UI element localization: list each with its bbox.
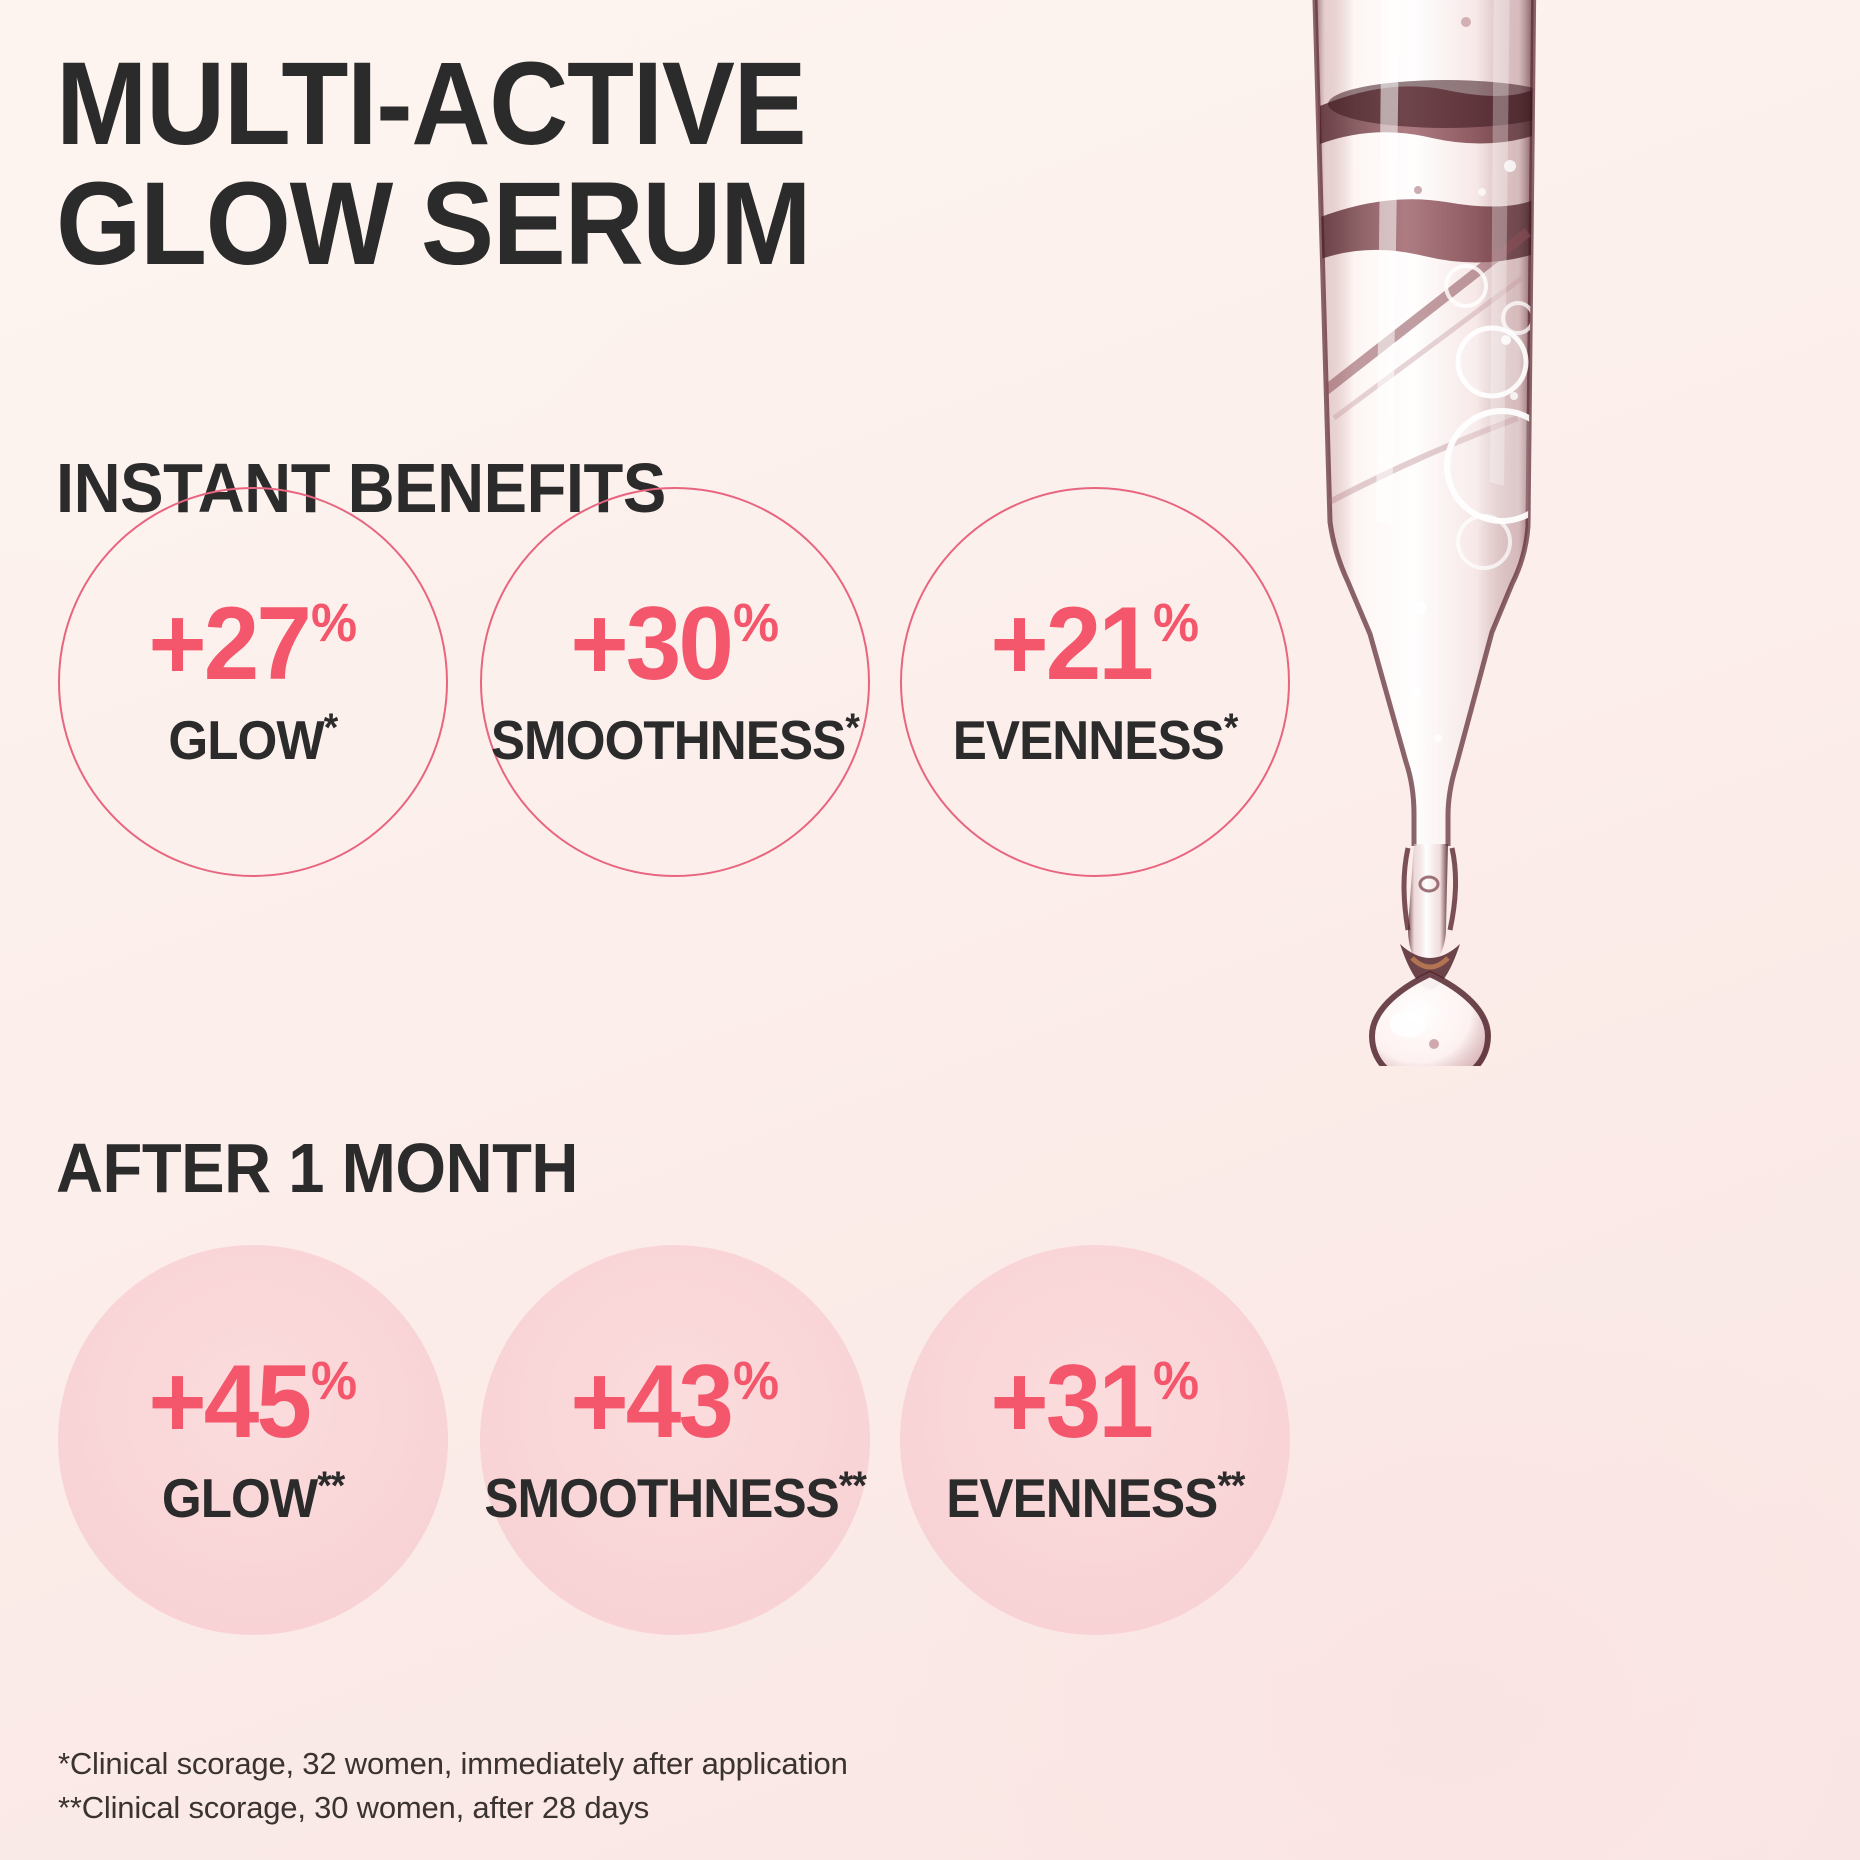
dropper-tip-edge-right — [1450, 848, 1456, 930]
dropper-glass-tube — [1314, 0, 1534, 846]
droplet-highlight — [1390, 1011, 1426, 1037]
stat-label: EVENNESS ** — [946, 1466, 1244, 1530]
bubble-small-9 — [1434, 734, 1442, 742]
stat-label: SMOOTHNESS ** — [484, 1466, 866, 1530]
bubble-small-2 — [1504, 160, 1516, 172]
stat-number: +31 — [991, 1350, 1152, 1454]
footnote-double-asterisk: **Clinical scorage, 30 women, after 28 d… — [58, 1786, 848, 1830]
droplet-pinch — [1400, 944, 1460, 990]
stat-label-text: GLOW — [162, 1466, 317, 1530]
bubble-small-3 — [1478, 188, 1486, 196]
dropper-tip-edge-left — [1404, 848, 1408, 930]
stat-label: SMOOTHNESS * — [491, 708, 859, 772]
footnote-marker: * — [1224, 708, 1238, 748]
stat-label-text: EVENNESS — [946, 1466, 1217, 1530]
bubble-small-6 — [1510, 392, 1518, 400]
stat-number: +45 — [149, 1350, 310, 1454]
dropper-right-edge — [1448, 0, 1534, 846]
stat-label-text: EVENNESS — [953, 708, 1224, 772]
footnote-marker: ** — [317, 1466, 344, 1506]
stat-value: +30 % — [571, 592, 780, 696]
droplet-bubble — [1429, 1039, 1439, 1049]
stat-label: GLOW * — [169, 708, 338, 772]
bubble-large-4-fill — [1447, 411, 1557, 521]
footnote-marker: ** — [839, 1466, 866, 1506]
droplet-pinch-warm-glint — [1412, 958, 1448, 967]
tip-bubble — [1420, 877, 1438, 891]
liquid-band-mid — [1318, 199, 1534, 262]
bubble-interface-1 — [1326, 232, 1528, 390]
bubble-small-5 — [1501, 335, 1511, 345]
stat-row-instant-benefits: +27 % GLOW * +30 % SMOOTHNESS * +21 % — [0, 487, 1320, 877]
stat-number: +43 — [571, 1350, 732, 1454]
stat-circle-glow-month: +45 % GLOW ** — [58, 1245, 448, 1635]
stat-circle-evenness-instant: +21 % EVENNESS * — [900, 487, 1290, 877]
page-title: MULTI-ACTIVE GLOW SERUM — [56, 44, 1172, 285]
footnote-marker: ** — [1217, 1466, 1244, 1506]
bubble-large-3 — [1503, 303, 1533, 333]
serum-droplet — [1370, 972, 1490, 1066]
stat-label: EVENNESS * — [953, 708, 1238, 772]
bubble-large-5 — [1458, 516, 1510, 568]
footnote-single-asterisk: *Clinical scorage, 32 women, immediately… — [58, 1742, 848, 1786]
infographic-stage: MULTI-ACTIVE GLOW SERUM INSTANT BENEFITS… — [0, 0, 1860, 1860]
bubble-large-1 — [1458, 328, 1526, 396]
stat-circle-evenness-month: +31 % EVENNESS ** — [900, 1245, 1290, 1635]
percent-symbol: % — [311, 596, 357, 650]
footnotes: *Clinical scorage, 32 women, immediately… — [58, 1742, 848, 1830]
footnote-marker: * — [324, 708, 338, 748]
stat-label-text: GLOW — [169, 708, 324, 772]
percent-symbol: % — [311, 1354, 357, 1408]
bubble-small-1 — [1461, 17, 1471, 27]
percent-symbol: % — [733, 596, 779, 650]
percent-symbol: % — [1153, 596, 1199, 650]
bubble-small-4 — [1414, 186, 1422, 194]
bubble-interface-3 — [1322, 418, 1518, 506]
bubble-small-8 — [1411, 687, 1421, 697]
glass-highlight-right — [1490, 0, 1510, 486]
stat-row-after-1-month: +45 % GLOW ** +43 % SMOOTHNESS ** +31 % — [0, 1245, 1320, 1635]
stat-value: +43 % — [571, 1350, 780, 1454]
dropper-left-edge — [1314, 0, 1414, 846]
stat-value: +31 % — [991, 1350, 1200, 1454]
stat-number: +27 — [149, 592, 310, 696]
stat-value: +27 % — [149, 592, 358, 696]
stat-label: GLOW ** — [162, 1466, 344, 1530]
dropper-interior — [1318, 0, 1564, 742]
stat-number: +21 — [991, 592, 1152, 696]
percent-symbol: % — [1153, 1354, 1199, 1408]
dropper-tip — [1408, 844, 1448, 972]
percent-symbol: % — [733, 1354, 779, 1408]
section-heading-after-1-month: AFTER 1 MONTH — [56, 1128, 578, 1208]
bubble-large-2 — [1446, 266, 1486, 306]
serum-droplet-outline — [1372, 974, 1488, 1066]
stat-value: +21 % — [991, 592, 1200, 696]
stat-label-text: SMOOTHNESS — [491, 708, 845, 772]
stat-circle-smoothness-month: +43 % SMOOTHNESS ** — [480, 1245, 870, 1635]
stat-circle-smoothness-instant: +30 % SMOOTHNESS * — [480, 487, 870, 877]
stat-value: +45 % — [149, 1350, 358, 1454]
liquid-surface-top — [1328, 80, 1564, 128]
stat-number: +30 — [571, 592, 732, 696]
bubble-interface-2 — [1334, 278, 1522, 418]
liquid-band-upper — [1320, 86, 1532, 144]
footnote-marker: * — [845, 708, 859, 748]
stat-circle-glow-instant: +27 % GLOW * — [58, 487, 448, 877]
bubble-large-4 — [1447, 411, 1557, 521]
stat-label-text: SMOOTHNESS — [484, 1466, 838, 1530]
bubble-small-7 — [1414, 602, 1426, 614]
bubble-large-1-fill — [1458, 328, 1526, 396]
serum-dropper-image — [1296, 0, 1860, 1066]
glass-highlight-left — [1376, 0, 1400, 526]
